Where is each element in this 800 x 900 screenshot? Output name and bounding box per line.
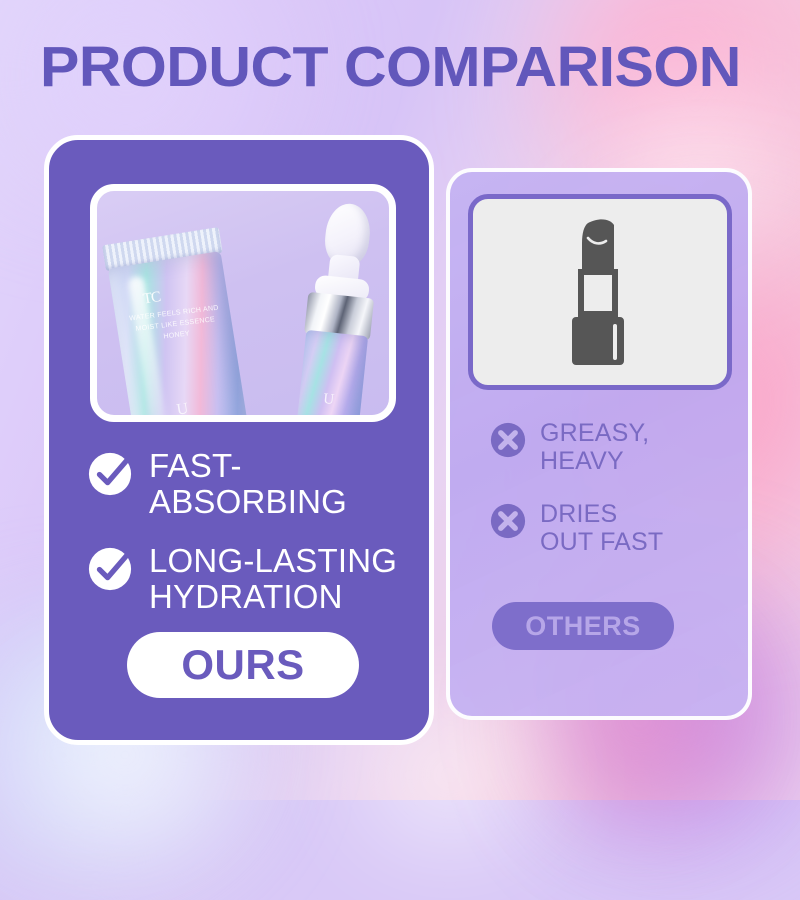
list-item-label: GREASY, HEAVY: [540, 420, 649, 475]
ours-feature-list: FAST- ABSORBING LONG-LASTING HYDRATION: [87, 448, 417, 639]
list-item-label: LONG-LASTING HYDRATION: [149, 543, 397, 614]
tube-logo: TC: [142, 289, 162, 308]
others-badge-label: OTHERS: [525, 611, 641, 642]
x-circle-icon: [490, 503, 526, 539]
product-tube-image: TC WATER FEELS RICH AND MOIST LIKE ESSEN…: [98, 226, 254, 422]
check-circle-icon: [87, 451, 133, 497]
x-circle-icon: [490, 422, 526, 458]
ours-comparison-card: TC WATER FEELS RICH AND MOIST LIKE ESSEN…: [44, 135, 434, 745]
others-product-image-panel: [468, 194, 732, 390]
check-circle-icon: [87, 546, 133, 592]
others-badge: OTHERS: [492, 602, 674, 650]
list-item: LONG-LASTING HYDRATION: [87, 543, 417, 614]
others-feature-list: GREASY, HEAVY DRIES OUT FAST: [490, 420, 740, 582]
page-title: PRODUCT COMPARISON: [40, 34, 741, 100]
list-item: DRIES OUT FAST: [490, 501, 740, 556]
dropper-glass-body: U: [296, 330, 368, 422]
dropper-brand-mark: U: [322, 391, 335, 409]
lipstick-icon: [548, 217, 652, 367]
ours-badge: OURS: [127, 632, 359, 698]
list-item: FAST- ABSORBING: [87, 448, 417, 519]
list-item-label: DRIES OUT FAST: [540, 501, 663, 556]
list-item-label: FAST- ABSORBING: [149, 448, 347, 519]
product-dropper-bottle-image: U: [283, 199, 390, 422]
list-item: GREASY, HEAVY: [490, 420, 740, 475]
others-comparison-card: GREASY, HEAVY DRIES OUT FAST OTHERS: [446, 168, 752, 720]
ours-badge-label: OURS: [181, 641, 304, 689]
ours-product-image-panel: TC WATER FEELS RICH AND MOIST LIKE ESSEN…: [90, 184, 396, 422]
tube-brand-mark: U: [175, 400, 189, 420]
